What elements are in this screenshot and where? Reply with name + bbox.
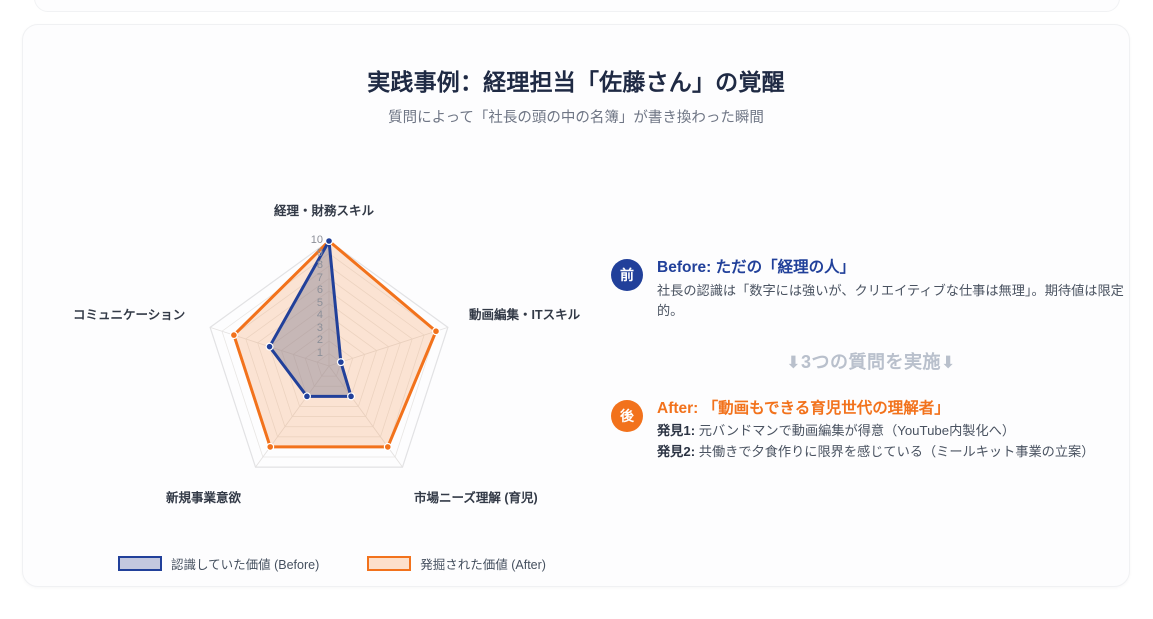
after-body: After: 「動画もできる育児世代の理解者」 発見1: 元バンドマンで動画編集… [657,398,1131,463]
radar-axis-label-3: 新規事業意欲 [166,487,241,506]
chart-legend: 認識していた価値 (Before) 発掘された価値 (After) [118,554,546,573]
radar-axis-label-4: コミュニケーション [73,304,185,323]
after-block: 後 After: 「動画もできる育児世代の理解者」 発見1: 元バンドマンで動画… [611,398,1131,463]
radar-tick-6: 6 [299,284,323,296]
page-root: 実践事例：経理担当「佐藤さん」の覚醒 質問によって「社長の頭の中の名簿」が書き換… [0,0,1153,619]
radar-axis-label-1: 動画編集・ITスキル [469,304,580,323]
radar-tick-1: 1 [299,347,323,359]
legend-label-after: 発掘された価値 (After) [420,554,546,573]
page-title: 実践事例：経理担当「佐藤さん」の覚醒 [23,63,1129,97]
after-badge: 後 [611,400,643,432]
down-arrow-right-icon: ⬇ [941,353,956,372]
after-finding-2-text: 共働きで夕食作りに限界を感じている（ミールキット事業の立案） [699,444,1095,459]
radar-tick-7: 7 [299,272,323,284]
radar-tick-8: 8 [299,259,323,271]
insight-panel: 前 Before: ただの「経理の人」 社長の認識は「数字には強いが、クリエイテ… [611,257,1131,462]
radar-axis-label-2: 市場ニーズ理解 (育児) [414,487,538,506]
before-block: 前 Before: ただの「経理の人」 社長の認識は「数字には強いが、クリエイテ… [611,257,1131,322]
radar-tick-10: 10 [299,234,323,246]
radar-tick-9: 9 [299,247,323,259]
legend-swatch-before [118,556,162,571]
after-finding-1-text: 元バンドマンで動画編集が得意（YouTube内製化へ） [699,423,1015,438]
page-subtitle: 質問によって「社長の頭の中の名簿」が書き換わった瞬間 [23,106,1129,127]
radar-tick-2: 2 [299,334,323,346]
legend-label-before: 認識していた価値 (Before) [171,554,319,573]
legend-item-before[interactable]: 認識していた価値 (Before) [118,554,319,573]
radar-tick-3: 3 [299,322,323,334]
after-finding-1-label: 発見1: [657,423,695,438]
radar-tick-4: 4 [299,309,323,321]
radar-tick-5: 5 [299,297,323,309]
before-heading: Before: ただの「経理の人」 [657,257,1131,279]
main-card: 実践事例：経理担当「佐藤さん」の覚醒 質問によって「社長の頭の中の名簿」が書き換… [22,24,1130,587]
legend-swatch-after [367,556,411,571]
before-badge: 前 [611,259,643,291]
questions-divider: ⬇3つの質問を実施⬇ [611,348,1131,374]
after-finding-1: 発見1: 元バンドマンで動画編集が得意（YouTube内製化へ） [657,421,1131,441]
after-heading: After: 「動画もできる育児世代の理解者」 [657,398,1131,420]
after-findings: 発見1: 元バンドマンで動画編集が得意（YouTube内製化へ） 発見2: 共働… [657,421,1131,462]
legend-item-after[interactable]: 発掘された価値 (After) [367,554,546,573]
before-description: 社長の認識は「数字には強いが、クリエイティブな仕事は無理」。期待値は限定的。 [657,281,1131,322]
questions-divider-label: 3つの質問を実施 [801,352,941,372]
down-arrow-left-icon: ⬇ [786,353,801,372]
after-finding-2: 発見2: 共働きで夕食作りに限界を感じている（ミールキット事業の立案） [657,442,1131,462]
radar-chart: 10987654321 経理・財務スキル 動画編集・ITスキル 市場ニーズ理解 … [43,165,603,585]
before-body: Before: ただの「経理の人」 社長の認識は「数字には強いが、クリエイティブ… [657,257,1131,322]
radar-chart-svg [43,165,603,585]
after-finding-2-label: 発見2: [657,444,695,459]
radar-axis-label-0: 経理・財務スキル [274,200,374,219]
background-card-peek [34,0,1120,12]
